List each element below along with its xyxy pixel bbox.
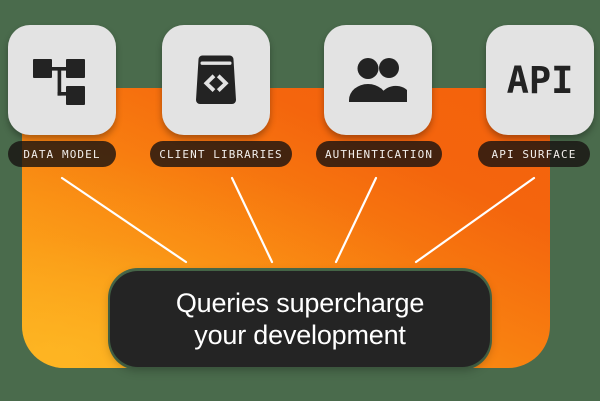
tag-label: CLIENT LIBRARIES <box>159 148 283 161</box>
headline-pill: Queries supercharge your development <box>110 271 490 367</box>
tag-data-model: DATA MODEL <box>8 141 116 167</box>
api-text-icon: API <box>507 62 574 99</box>
schema-nodes-icon <box>33 53 91 107</box>
feature-api-surface[interactable]: API API SURFACE <box>478 25 600 135</box>
feature-data-model[interactable]: DATA MODEL <box>8 25 130 135</box>
diagram-canvas: DATA MODEL CLIENT LIBRARIES <box>0 0 600 401</box>
tag-client-libraries: CLIENT LIBRARIES <box>150 141 292 167</box>
icon-card-client-libraries[interactable] <box>162 25 270 135</box>
headline-text: Queries supercharge your development <box>160 287 440 352</box>
headline-line-2: your development <box>194 320 405 350</box>
icon-card-authentication[interactable] <box>324 25 432 135</box>
tag-label: API SURFACE <box>492 148 577 161</box>
tag-api-surface: API SURFACE <box>478 141 590 167</box>
two-people-icon <box>347 56 409 104</box>
icon-card-api-surface[interactable]: API <box>486 25 594 135</box>
code-brackets-icon <box>188 52 244 108</box>
feature-client-libraries[interactable]: CLIENT LIBRARIES <box>160 25 282 135</box>
feature-authentication[interactable]: AUTHENTICATION <box>318 25 440 135</box>
tag-label: DATA MODEL <box>23 148 100 161</box>
headline-line-1: Queries supercharge <box>176 288 424 318</box>
icon-card-data-model[interactable] <box>8 25 116 135</box>
tag-authentication: AUTHENTICATION <box>316 141 442 167</box>
tag-label: AUTHENTICATION <box>325 148 433 161</box>
